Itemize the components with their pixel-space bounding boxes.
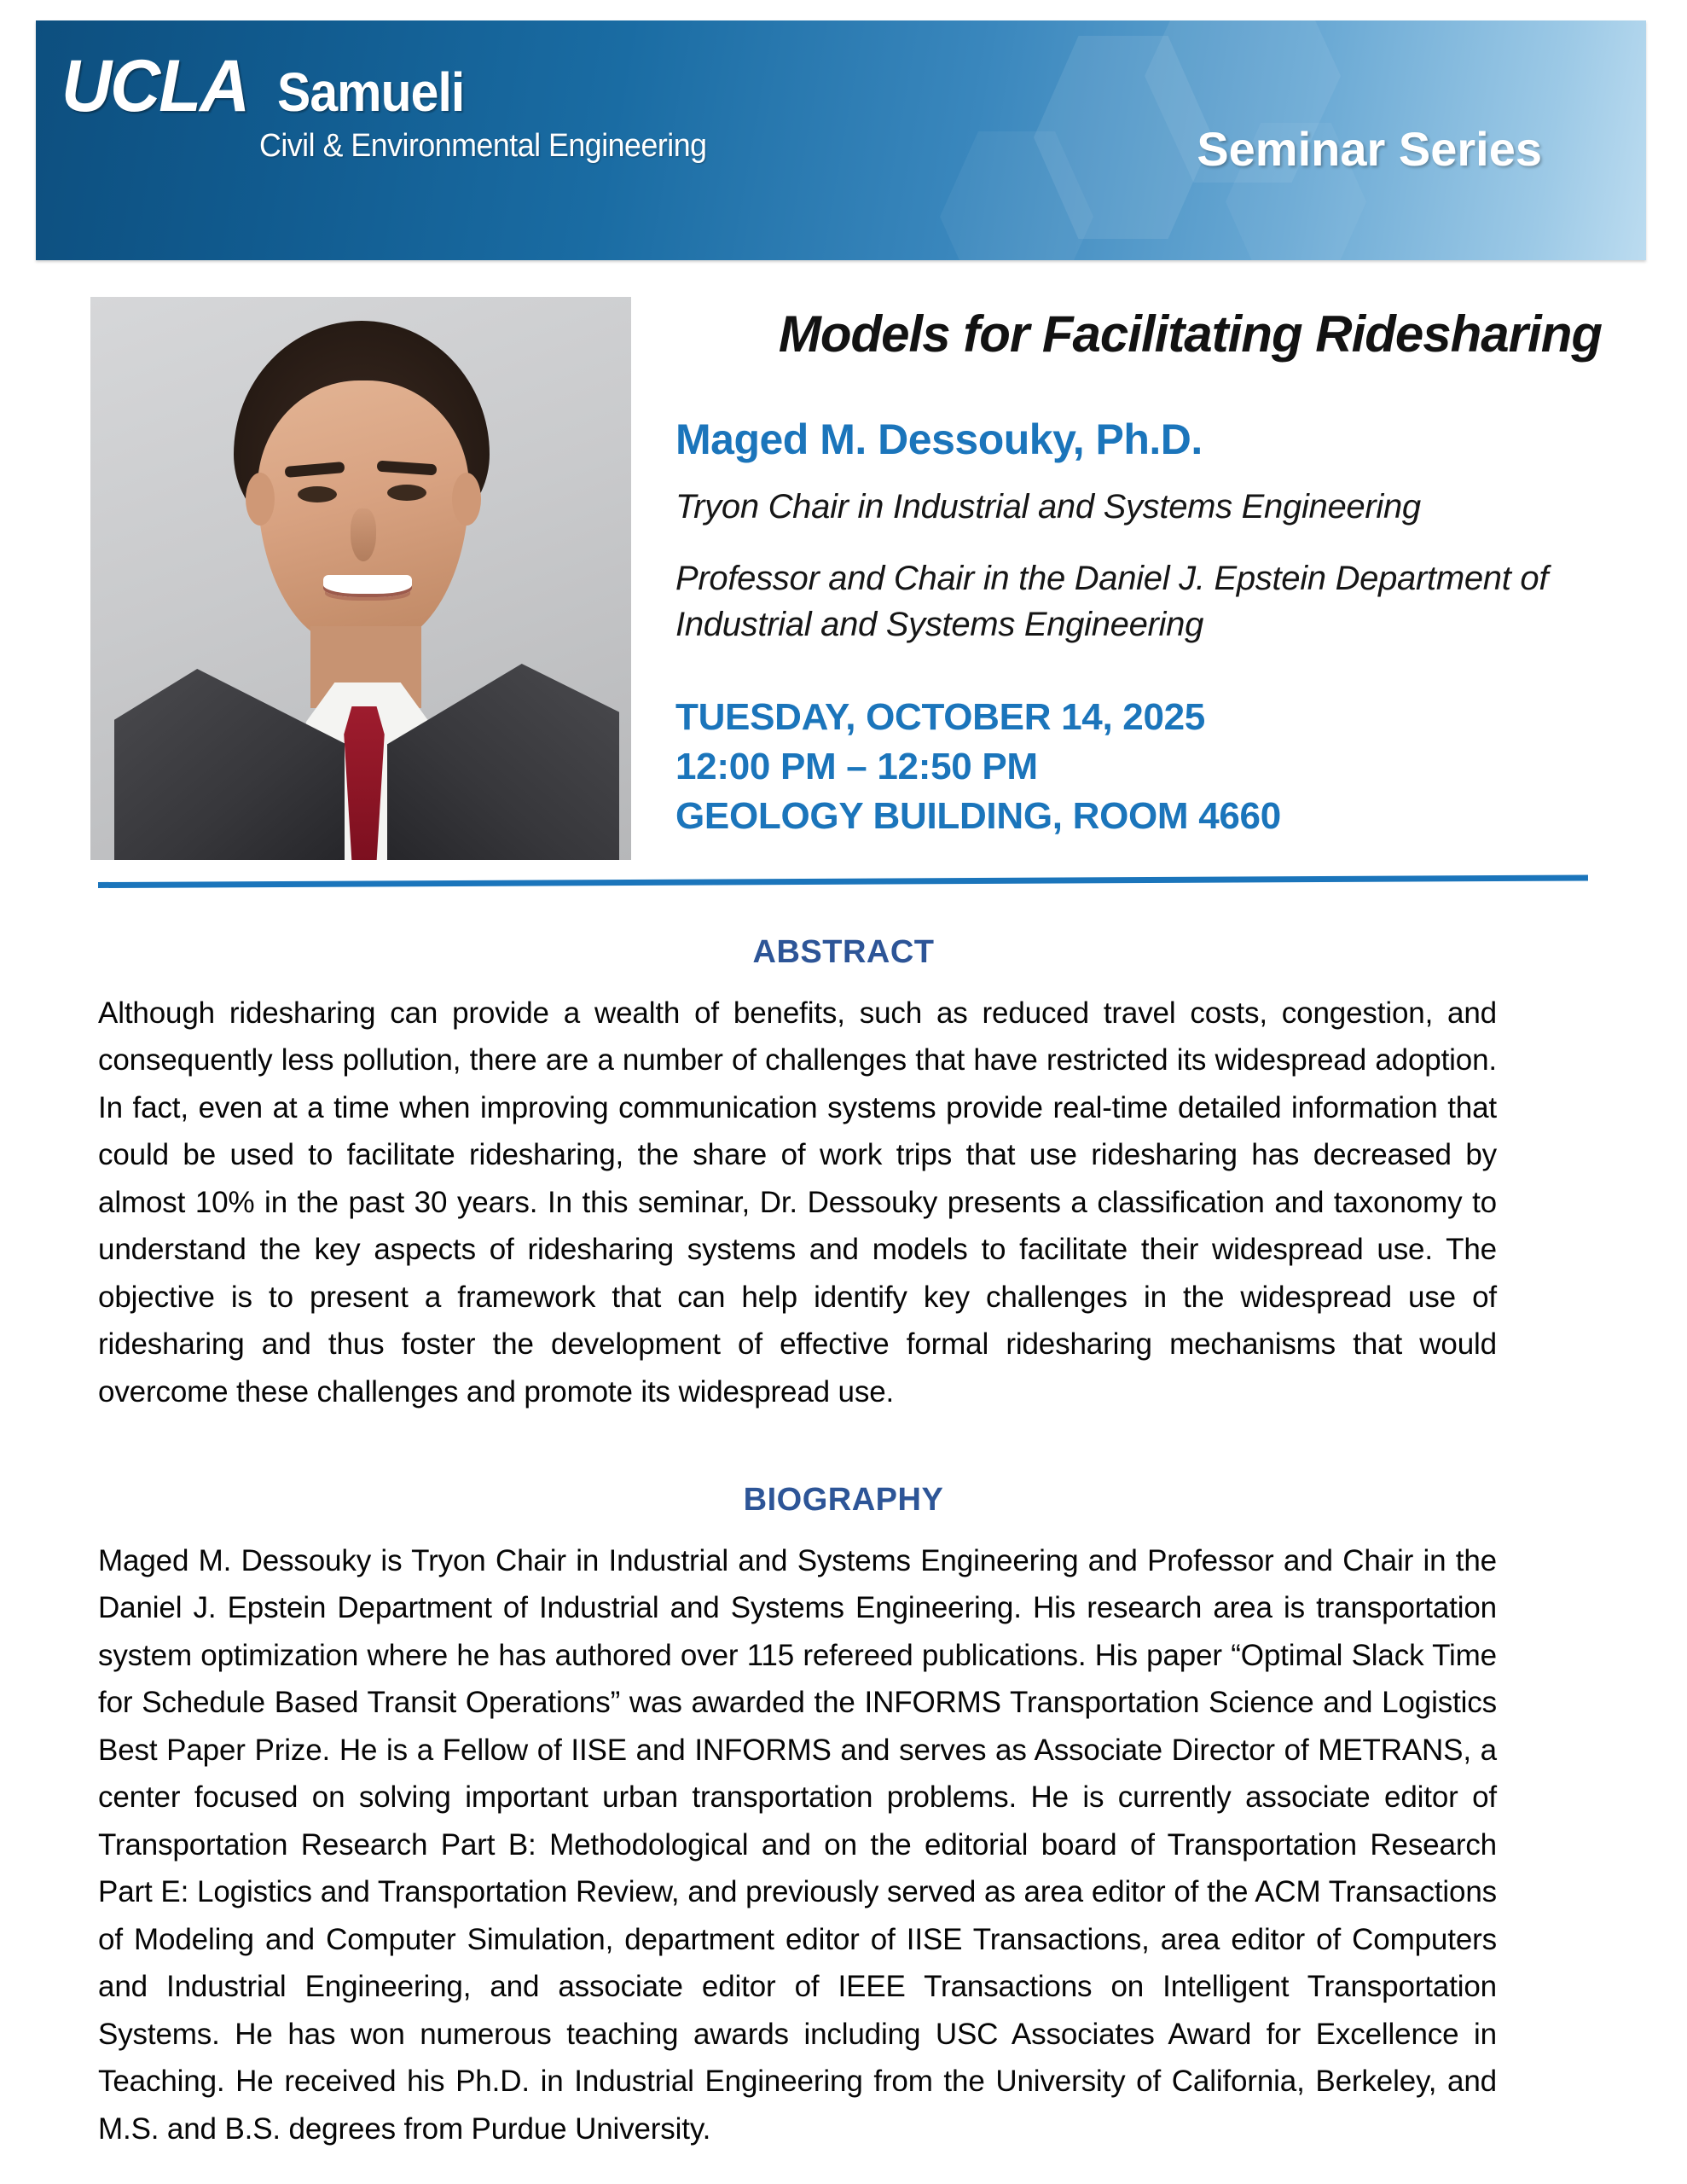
talk-title: Models for Facilitating Ridesharing — [657, 307, 1602, 362]
speaker-role-secondary: Professor and Chair in the Daniel J. Eps… — [675, 556, 1605, 648]
portrait-jacket-right — [387, 664, 619, 860]
speaker-portrait-photo — [90, 297, 631, 860]
event-location: GEOLOGY BUILDING, ROOM 4660 — [675, 792, 1281, 841]
event-details: TUESDAY, OCTOBER 14, 2025 12:00 PM – 12:… — [675, 693, 1281, 841]
speaker-name: Maged M. Dessouky, Ph.D. — [675, 415, 1203, 464]
portrait-eye-left — [298, 486, 337, 502]
portrait-mouth — [323, 575, 412, 597]
biography-body-text: Maged M. Dessouky is Tryon Chair in Indu… — [98, 1537, 1497, 2152]
header-banner: UCLA Samueli Civil & Environmental Engin… — [36, 20, 1646, 260]
portrait-ear-left — [246, 473, 275, 526]
portrait-nose — [351, 508, 376, 561]
abstract-body-text: Although ridesharing can provide a wealt… — [98, 990, 1497, 1415]
horizontal-divider-rule — [98, 874, 1588, 888]
event-date: TUESDAY, OCTOBER 14, 2025 — [675, 693, 1281, 742]
portrait-eye-right — [387, 485, 426, 501]
biography-section-heading: BIOGRAPHY — [0, 1482, 1687, 1519]
logo-ucla-wordmark: UCLA — [61, 49, 248, 123]
abstract-section-heading: ABSTRACT — [0, 934, 1687, 971]
logo-samueli-wordmark: Samueli — [277, 65, 464, 119]
event-time: 12:00 PM – 12:50 PM — [675, 742, 1281, 792]
portrait-ear-right — [452, 473, 481, 526]
logo-department-name: Civil & Environmental Engineering — [259, 128, 707, 165]
seminar-series-label: Seminar Series — [1197, 121, 1542, 177]
speaker-role-primary: Tryon Chair in Industrial and Systems En… — [675, 488, 1421, 526]
ucla-samueli-logo: UCLA Samueli Civil & Environmental Engin… — [61, 49, 735, 165]
logo-primary-line: UCLA Samueli — [61, 49, 735, 123]
